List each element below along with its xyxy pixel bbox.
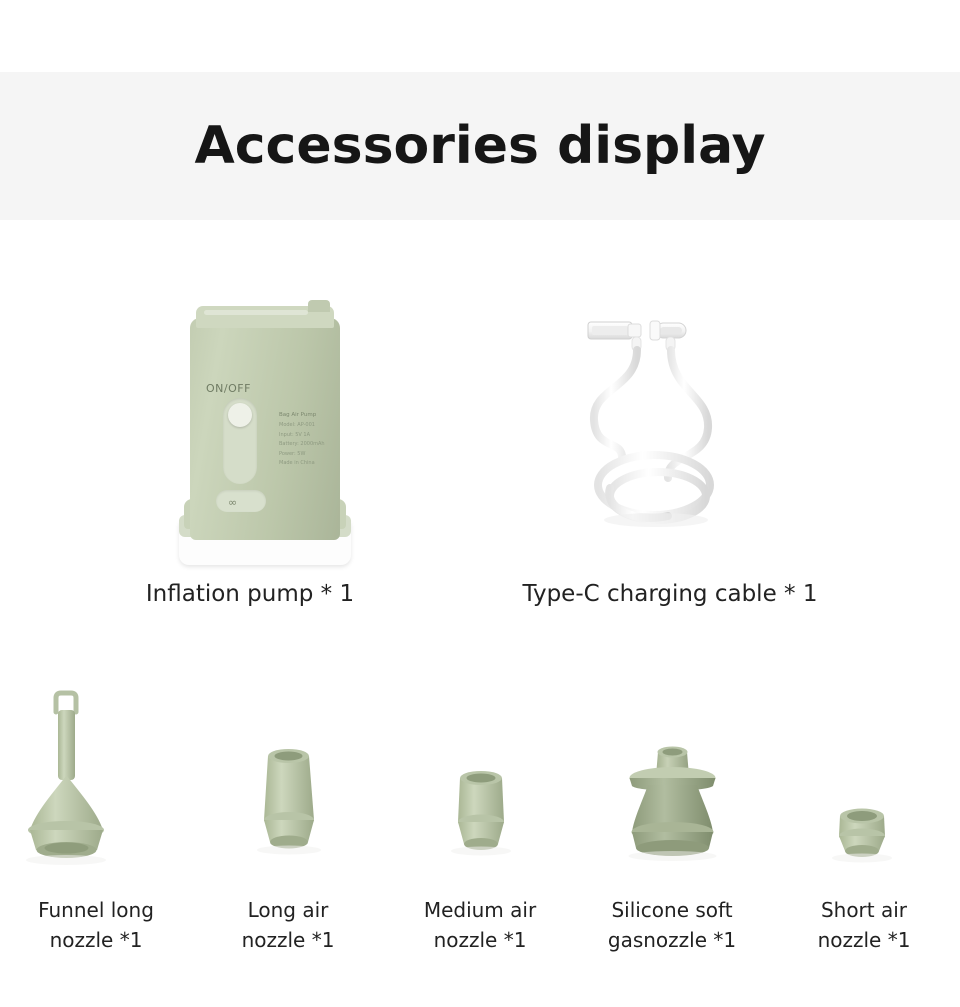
pump-spec-line-2: Input: 5V 1A bbox=[279, 432, 310, 438]
short-air-nozzle-caption-line-1: Short air bbox=[821, 898, 907, 922]
long-air-nozzle-caption: Long air nozzle *1 bbox=[192, 895, 384, 955]
accessory-item-silicone-soft-gasnozzle: Silicone soft gasnozzle *1 bbox=[576, 690, 768, 990]
silicone-soft-gasnozzle-caption-line-2: gasnozzle *1 bbox=[608, 928, 736, 952]
accessory-item-medium-air-nozzle: Medium air nozzle *1 bbox=[384, 690, 576, 990]
usb-cable-icon bbox=[570, 310, 770, 540]
pump-power-button[interactable] bbox=[216, 490, 266, 512]
accessory-item-type-c-cable: Type-C charging cable * 1 bbox=[460, 250, 880, 660]
funnel-long-nozzle-icon bbox=[0, 690, 192, 895]
type-c-cable-caption: Type-C charging cable * 1 bbox=[460, 580, 880, 609]
funnel-long-nozzle-caption-line-1: Funnel long bbox=[38, 898, 154, 922]
long-air-nozzle-icon bbox=[192, 690, 384, 895]
pump-spec-line-1: Model: AP-001 bbox=[279, 422, 315, 428]
long-air-nozzle-caption-line-1: Long air bbox=[248, 898, 329, 922]
funnel-long-nozzle-caption: Funnel long nozzle *1 bbox=[0, 895, 192, 955]
short-air-nozzle-icon bbox=[768, 690, 960, 895]
pump-switch-knob[interactable] bbox=[228, 403, 252, 427]
pump-air-outlet bbox=[308, 300, 330, 312]
usb-a-plug bbox=[588, 322, 641, 339]
medium-air-nozzle-icon bbox=[384, 690, 576, 895]
long-air-nozzle-caption-line-2: nozzle *1 bbox=[242, 928, 335, 952]
inflation-pump-illustration: ON/OFF ∞ Bag Air Pump Model: AP-001 Inpu… bbox=[40, 250, 460, 580]
funnel-long-nozzle-caption-line-2: nozzle *1 bbox=[50, 928, 143, 952]
medium-air-nozzle-illustration bbox=[384, 690, 576, 895]
silicone-soft-gasnozzle-caption-line-1: Silicone soft bbox=[611, 898, 732, 922]
pump-top-highlight bbox=[204, 310, 308, 315]
accessory-item-short-air-nozzle: Short air nozzle *1 bbox=[768, 690, 960, 990]
silicone-soft-gasnozzle-caption: Silicone soft gasnozzle *1 bbox=[576, 895, 768, 955]
medium-air-nozzle-caption-line-1: Medium air bbox=[424, 898, 536, 922]
accessory-item-long-air-nozzle: Long air nozzle *1 bbox=[192, 690, 384, 990]
accessories-display-page: Accessories display ON/OFF ∞ bbox=[0, 0, 960, 1007]
pump-spec-line-4: Power: 5W bbox=[279, 451, 305, 457]
pump-graphic: ON/OFF ∞ Bag Air Pump Model: AP-001 Inpu… bbox=[190, 300, 340, 565]
short-air-nozzle-illustration bbox=[768, 690, 960, 895]
silicone-soft-gasnozzle-icon bbox=[576, 690, 768, 895]
long-air-nozzle-illustration bbox=[192, 690, 384, 895]
pump-spec-label: Bag Air Pump Model: AP-001 Input: 5V 1A … bbox=[279, 410, 331, 469]
short-air-nozzle-caption-line-2: nozzle *1 bbox=[818, 928, 911, 952]
medium-air-nozzle-caption-line-2: nozzle *1 bbox=[434, 928, 527, 952]
pump-spec-line-5: Made in China bbox=[279, 460, 315, 466]
accessory-item-inflation-pump: ON/OFF ∞ Bag Air Pump Model: AP-001 Inpu… bbox=[40, 250, 460, 660]
pump-spec-line-3: Battery: 2000mAh bbox=[279, 441, 325, 447]
page-title: Accessories display bbox=[194, 120, 765, 172]
accessory-item-funnel-long-nozzle: Funnel long nozzle *1 bbox=[0, 690, 192, 990]
header-banner: Accessories display bbox=[0, 72, 960, 220]
pump-spec-title: Bag Air Pump bbox=[279, 410, 331, 420]
top-accessory-row: ON/OFF ∞ Bag Air Pump Model: AP-001 Inpu… bbox=[0, 250, 960, 660]
funnel-long-nozzle-illustration bbox=[0, 690, 192, 895]
nozzle-row: Funnel long nozzle *1 bbox=[0, 690, 960, 990]
short-air-nozzle-caption: Short air nozzle *1 bbox=[768, 895, 960, 955]
inflation-pump-caption: Inflation pump * 1 bbox=[40, 580, 460, 609]
silicone-soft-gasnozzle-illustration bbox=[576, 690, 768, 895]
infinity-icon: ∞ bbox=[228, 496, 236, 509]
pump-onoff-label: ON/OFF bbox=[206, 382, 251, 395]
medium-air-nozzle-caption: Medium air nozzle *1 bbox=[384, 895, 576, 955]
type-c-cable-illustration bbox=[460, 250, 880, 580]
